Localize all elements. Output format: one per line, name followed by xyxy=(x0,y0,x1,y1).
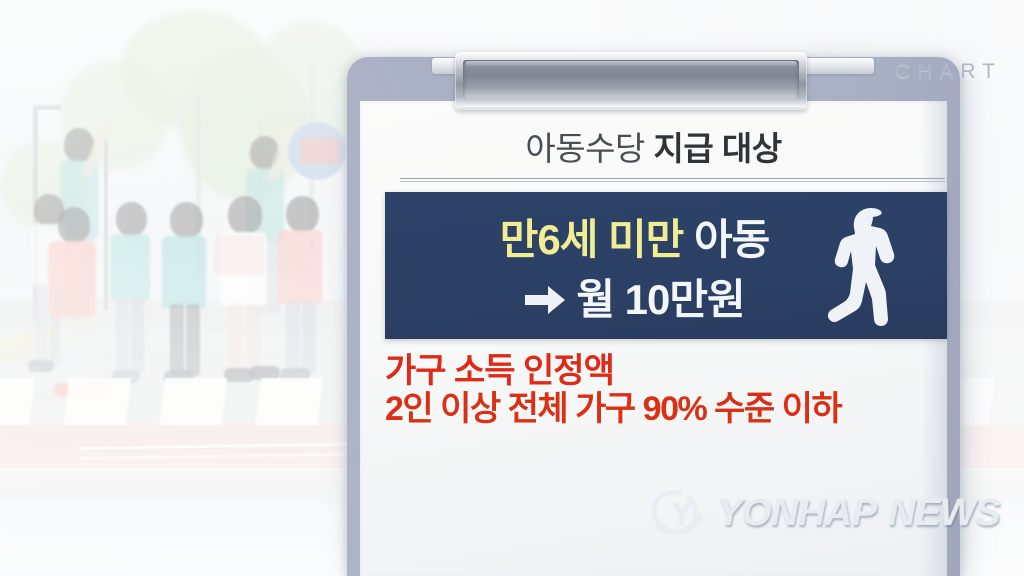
income-notes: 가구 소득 인정액 2인 이상 전체 가구 90% 수준 이하 xyxy=(385,352,960,428)
title-divider xyxy=(400,178,945,183)
chart-watermark-label: CHART xyxy=(895,60,1002,84)
logo-text-yonhap: YONHAP xyxy=(717,492,877,534)
highlight-line-2: 월 10만원 xyxy=(407,266,862,327)
walking-child-silhouette-icon xyxy=(819,206,911,328)
right-arrow-icon xyxy=(524,278,566,326)
highlight-child-text: 아동 xyxy=(694,216,769,263)
highlight-line-1: 만6세 미만 아동 xyxy=(407,206,862,267)
clip-highlight xyxy=(465,61,797,67)
page-title-light: 아동수당 xyxy=(525,130,644,167)
highlight-box: 만6세 미만 아동 월 10만원 xyxy=(385,192,947,339)
page-title-bold: 지급 대상 xyxy=(654,130,782,167)
yonhap-swirl-logo-icon xyxy=(650,487,708,539)
yonhap-news-wordmark: YONHAP NEWS xyxy=(717,492,1000,535)
yonhap-news-watermark: YONHAP NEWS xyxy=(650,486,1000,540)
clipboard-clip-icon[interactable] xyxy=(455,52,807,110)
highlight-age-text: 만6세 미만 xyxy=(500,216,684,263)
highlight-amount-text: 월 10만원 xyxy=(576,276,744,323)
logo-text-news: NEWS xyxy=(888,492,1000,534)
income-note-line-1: 가구 소득 인정액 xyxy=(385,352,960,390)
income-note-line-2: 2인 이상 전체 가구 90% 수준 이하 xyxy=(385,390,960,428)
page-title: 아동수당 지급 대상 xyxy=(360,122,947,170)
screenshot-root: CHART 아동수당 지급 대상 만6세 미만 아동 월 10만원 가구 소 xyxy=(0,0,1024,576)
